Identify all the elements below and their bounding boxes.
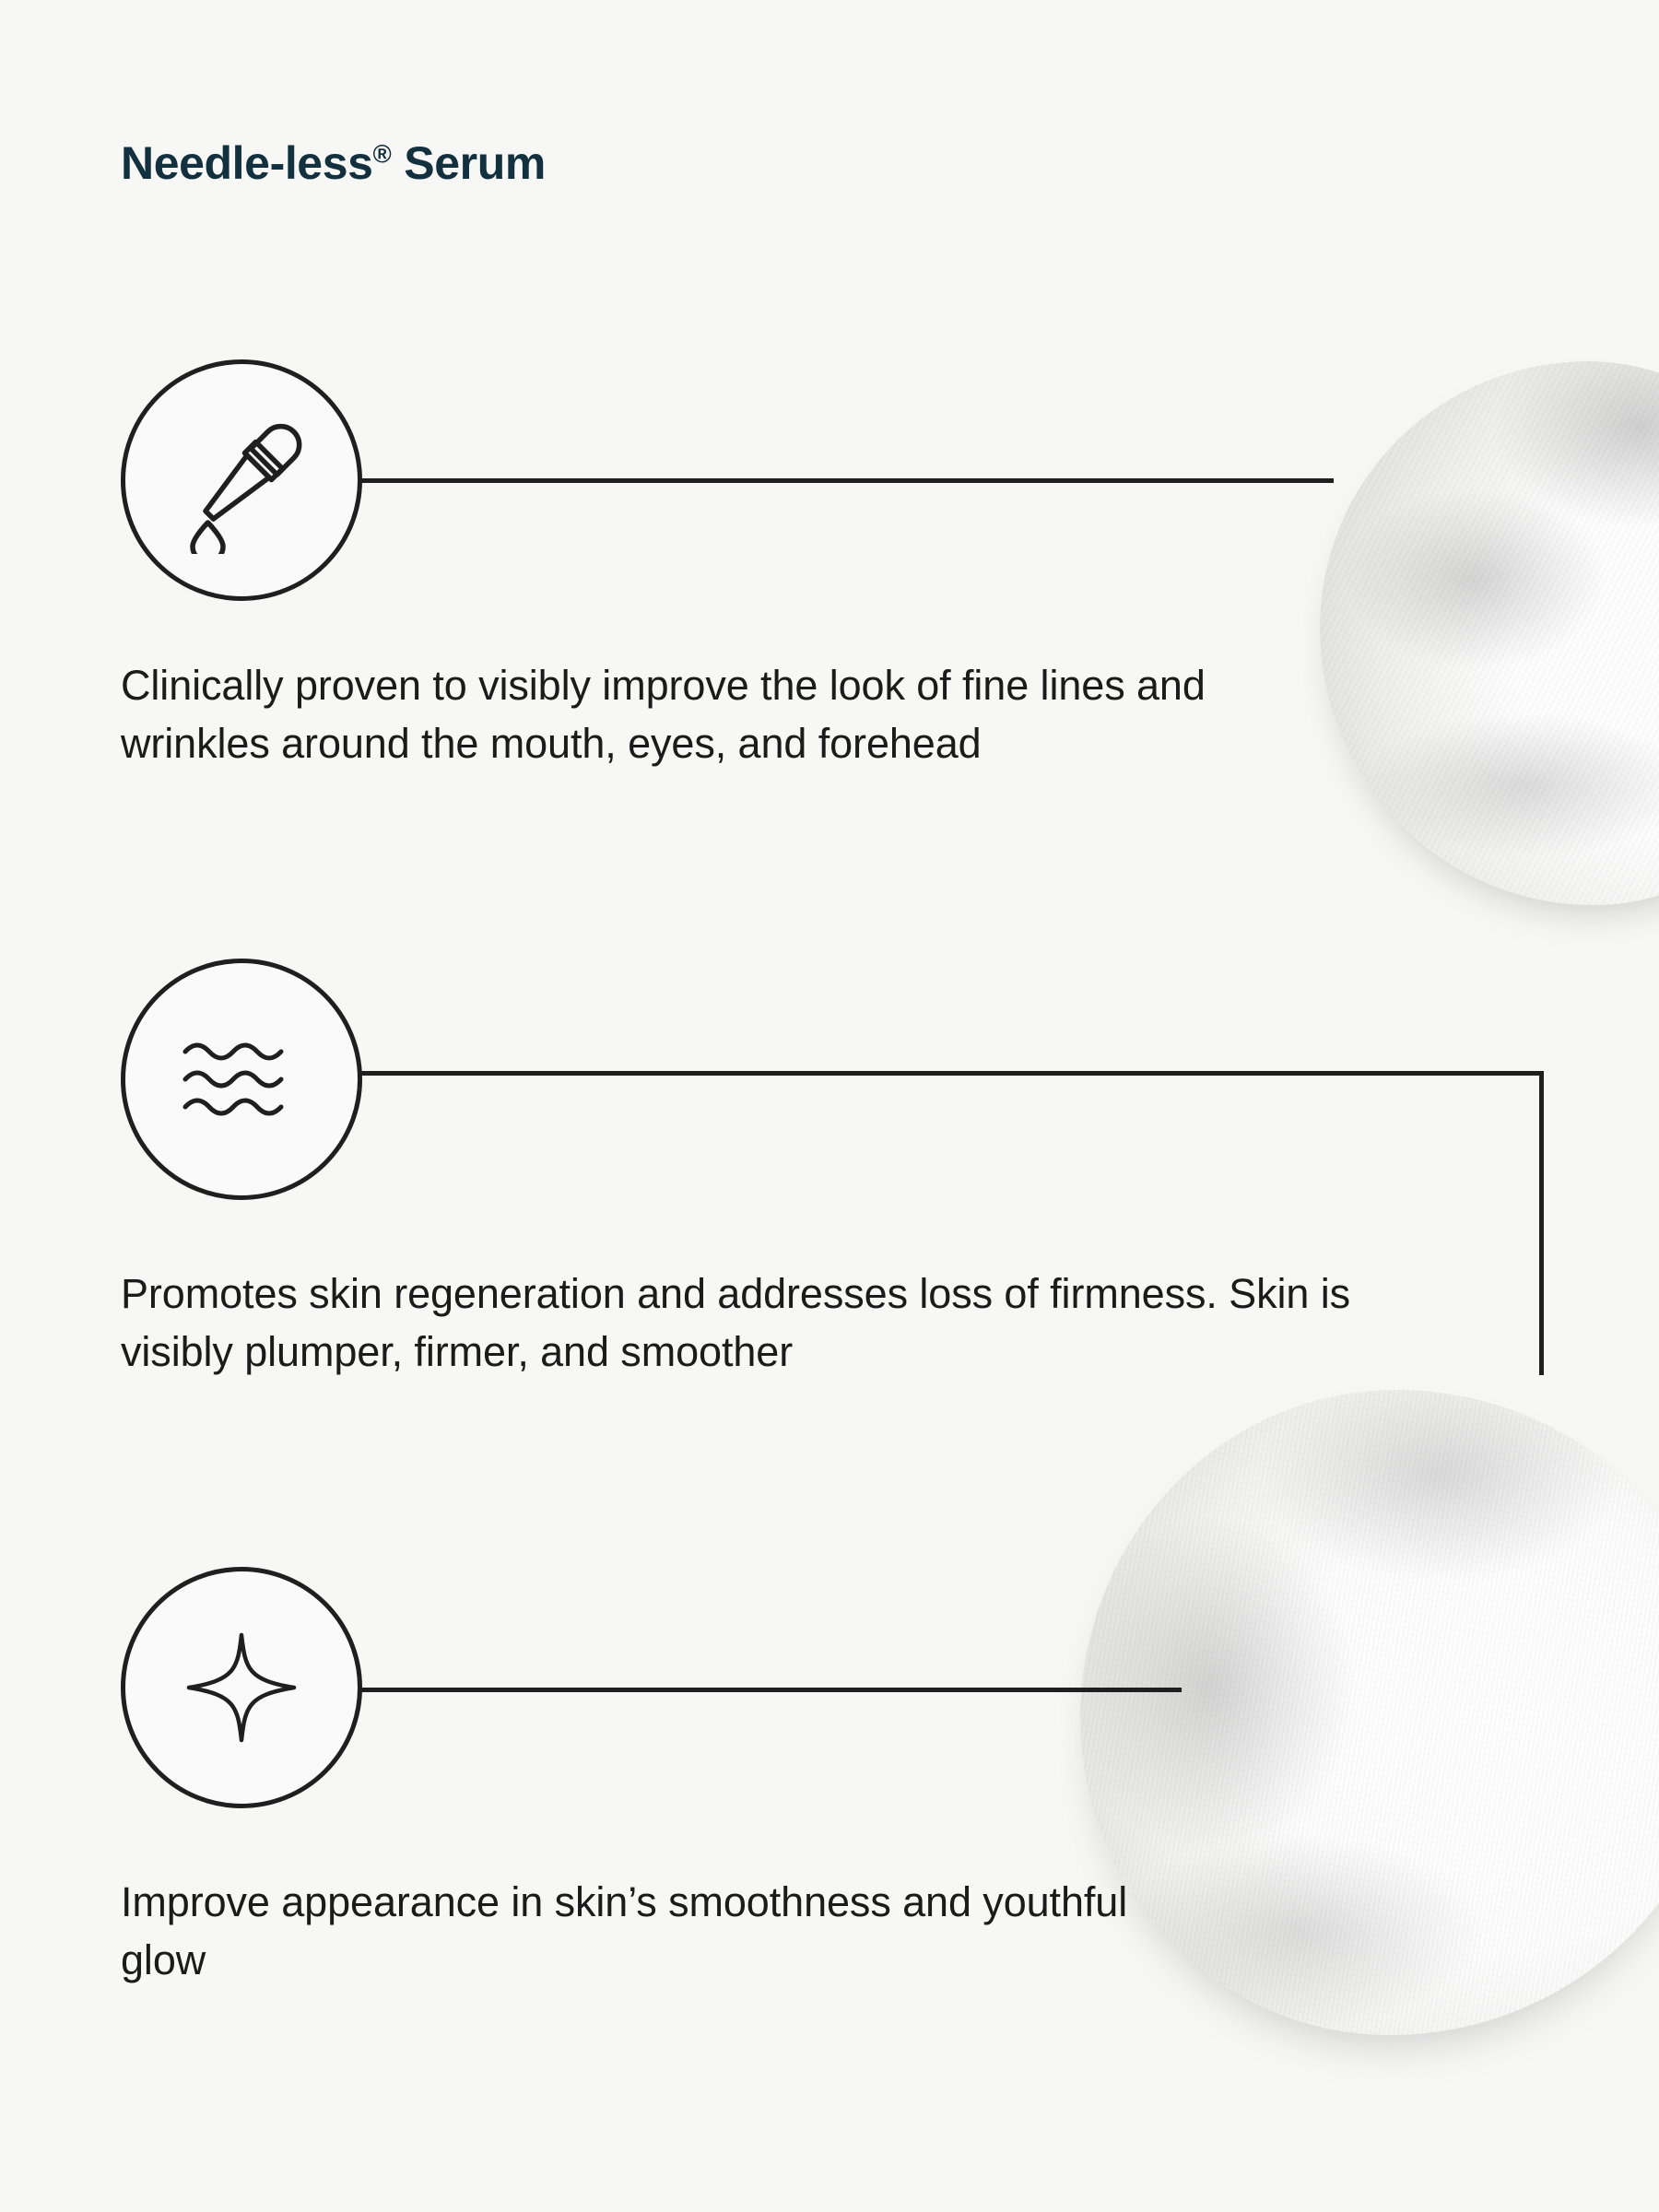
benefit-text-3: Improve appearance in skin’s smoothness …	[121, 1874, 1153, 1989]
benefit-icon-circle-1	[121, 359, 362, 601]
dropper-icon	[168, 406, 315, 554]
benefit-text-1: Clinically proven to visibly improve the…	[121, 657, 1300, 772]
page-title-main: Needle-less	[121, 137, 373, 189]
connector-line-benefit-2-horizontal	[359, 1071, 1544, 1076]
page-title-suffix: Serum	[392, 137, 546, 189]
page-title: Needle-less® Serum	[121, 138, 546, 189]
connector-line-benefit-1	[359, 478, 1334, 483]
cream-swatch-bottom-right-image	[1080, 1390, 1659, 2035]
cream-swatch-top-right-image	[1320, 361, 1659, 905]
registered-trademark-mark: ®	[373, 139, 392, 168]
benefit-text-2: Promotes skin regeneration and addresses…	[121, 1265, 1393, 1381]
waves-icon	[182, 1033, 301, 1125]
connector-line-benefit-3	[359, 1688, 1182, 1692]
sparkle-icon	[182, 1628, 301, 1747]
product-benefits-page: Needle-less® Serum	[0, 0, 1659, 2212]
connector-line-benefit-2-vertical	[1539, 1071, 1544, 1375]
benefit-icon-circle-2	[121, 959, 362, 1200]
benefit-icon-circle-3	[121, 1567, 362, 1808]
